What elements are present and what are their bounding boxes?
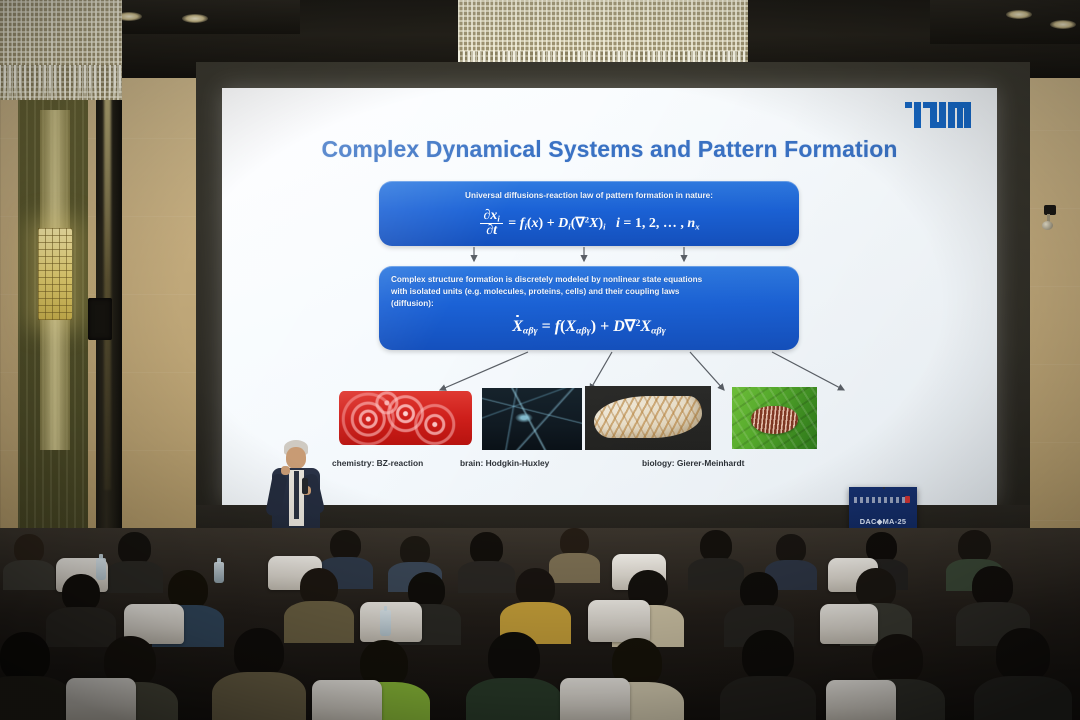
slide-title: Complex Dynamical Systems and Pattern Fo… [222,136,997,163]
equation-box-2: Complex structure formation is discretel… [379,266,799,350]
head [972,566,1013,607]
shoulders [106,561,163,593]
presenter-tie [294,471,299,519]
microphone[interactable] [302,478,308,494]
water-bottle [96,558,106,580]
projection-screen: Complex Dynamical Systems and Pattern Fo… [222,88,997,505]
sconce-stem [40,320,70,450]
presenter-head [286,447,306,469]
chair-back [66,678,136,720]
shoulders [688,558,744,590]
box1-rhs: = fi(x) + Di(∇2X)i i = 1, 2, … , nx [508,216,699,231]
ceiling-downlight [1050,20,1076,29]
pillar-light-strip [104,70,111,490]
banner-pole [883,487,885,489]
thumbnail-butterfly [732,387,817,449]
chandelier-fringe [0,65,122,100]
chandelier-left [0,0,122,100]
ceiling-downlight [1006,10,1032,19]
shoulders [974,676,1072,720]
shoulders [284,601,354,643]
chair-back [588,600,650,642]
shoulders [0,676,72,720]
head [742,630,794,682]
equation-box-1: Universal diffusions-reaction law of pat… [379,181,799,246]
box1-equation: ∂xi ∂t = fi(x) + Di(∇2X)i i = 1, 2, … , … [379,209,799,239]
banner-top-text [854,497,908,504]
thumbnail-cone-shell [585,386,711,450]
audience [0,528,1080,720]
shoulders [466,678,562,720]
banner-title: DAC◆MA-25 [849,517,917,526]
wall-sconce-lamp [38,228,72,320]
thumbnail-neuron-network [482,388,582,450]
head [0,632,50,682]
thumbnail-bz-reaction [339,391,472,445]
security-camera [1044,205,1058,231]
head [234,628,284,678]
ceiling-downlight [182,14,208,23]
shoulders [46,607,116,647]
tum-logo [905,102,971,133]
conference-photo: Complex Dynamical Systems and Pattern Fo… [0,0,1080,720]
chair-back [820,604,878,644]
fraction-numerator: ∂xi [480,209,502,223]
butterfly-wings [751,406,799,435]
shoulders [549,553,600,583]
arrows-vertical [379,246,799,268]
presenter-hand [281,466,290,475]
shoulders [458,561,515,593]
cone-shell-body [594,396,702,438]
chair-back [826,680,896,720]
box2-line3: (diffusion): [391,298,789,310]
caption-neuron-network: brain: Hodgkin-Huxley [460,458,549,468]
fraction-denominator: ∂t [480,223,502,238]
box2-line2: with isolated units (e.g. molecules, pro… [391,286,789,298]
wall-speaker-box [88,298,112,340]
shoulders [212,672,306,720]
box2-equation: Xαβγ = f(Xαβγ) + D∇2Xαβγ [379,316,799,337]
head [856,568,896,608]
chair-back [360,602,422,642]
partial-fraction: ∂xi ∂t [480,209,502,239]
camera-lens [1042,221,1053,230]
banner-logo-mark [905,496,910,504]
chair-back [560,678,630,720]
chair-back [312,680,382,720]
caption-bz-reaction: chemistry: BZ-reaction [332,458,423,468]
camera-body [1044,205,1056,215]
caption-cone-shell: biology: Gierer-Meinhardt [642,458,744,468]
box2-line1: Complex structure formation is discretel… [391,274,789,286]
head [488,632,540,684]
box1-caption: Universal diffusions-reaction law of pat… [379,190,799,202]
water-bottle [214,562,224,583]
head [996,628,1050,682]
water-bottle [380,610,391,636]
sconce-stem [40,110,70,230]
x-dot: X [512,318,523,336]
head [872,634,923,685]
shoulders [720,676,816,720]
shoulders [3,560,55,590]
